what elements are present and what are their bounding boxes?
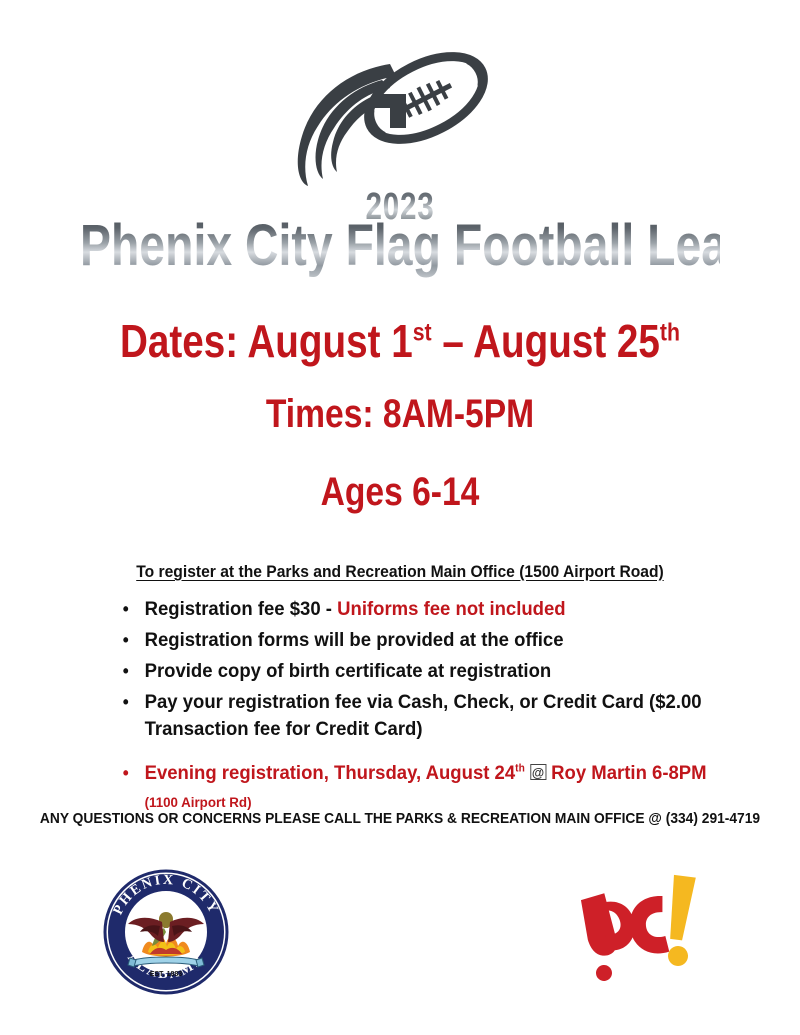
bullet-fee-black: Registration fee $30 -	[145, 598, 338, 620]
pc-letter-c	[627, 895, 670, 956]
flyer-page: 2023 2023 Phenix City Flag Football Leag…	[0, 0, 800, 1035]
pc-exclamation-icon	[666, 875, 696, 967]
times-line: Times: 8AM-5PM	[64, 392, 736, 437]
list-item: Registration fee $30 - Uniforms fee not …	[118, 596, 707, 623]
dates-sup-second: th	[660, 319, 680, 347]
dates-line: Dates: August 1st – August 25th	[64, 314, 736, 368]
phenix-city-seal-logo: PHENIX CITY ALABAMA EST. 1883	[100, 866, 232, 998]
evening-address: (1100 Airport Rd)	[145, 794, 252, 810]
list-item: Provide copy of birth certificate at reg…	[118, 658, 707, 685]
dates-middle: – August 25	[432, 315, 660, 367]
bullet-fee-red: Uniforms fee not included	[337, 598, 565, 620]
seal-est-text: EST. 1883	[150, 971, 182, 978]
footer-contact-line: ANY QUESTIONS OR CONCERNS PLEASE CALL TH…	[32, 810, 768, 827]
list-item: Registration forms will be provided at t…	[118, 627, 707, 654]
pc-brand-logo	[570, 872, 710, 984]
list-item-evening-registration: Evening registration, Thursday, August 2…	[118, 760, 707, 816]
page-title: Phenix City Flag Football League	[80, 212, 720, 279]
registration-details-list: Registration fee $30 - Uniforms fee not …	[118, 596, 738, 820]
evening-pre-at: Evening registration, Thursday, August 2…	[145, 762, 516, 784]
evening-post-at: Roy Martin 6-8PM	[546, 762, 707, 784]
football-logo-icon	[278, 36, 508, 186]
ages-line: Ages 6-14	[64, 470, 736, 515]
logo-block: 2023 2023	[0, 36, 800, 196]
list-item: Pay your registration fee via Cash, Chec…	[118, 689, 707, 743]
dates-sup-first: st	[413, 319, 432, 347]
evening-sup: th	[515, 763, 525, 775]
dates-prefix: Dates: August 1	[120, 315, 413, 367]
at-symbol-icon: @	[530, 764, 546, 780]
register-header: To register at the Parks and Recreation …	[32, 562, 768, 582]
pc-letter-p	[580, 892, 637, 981]
